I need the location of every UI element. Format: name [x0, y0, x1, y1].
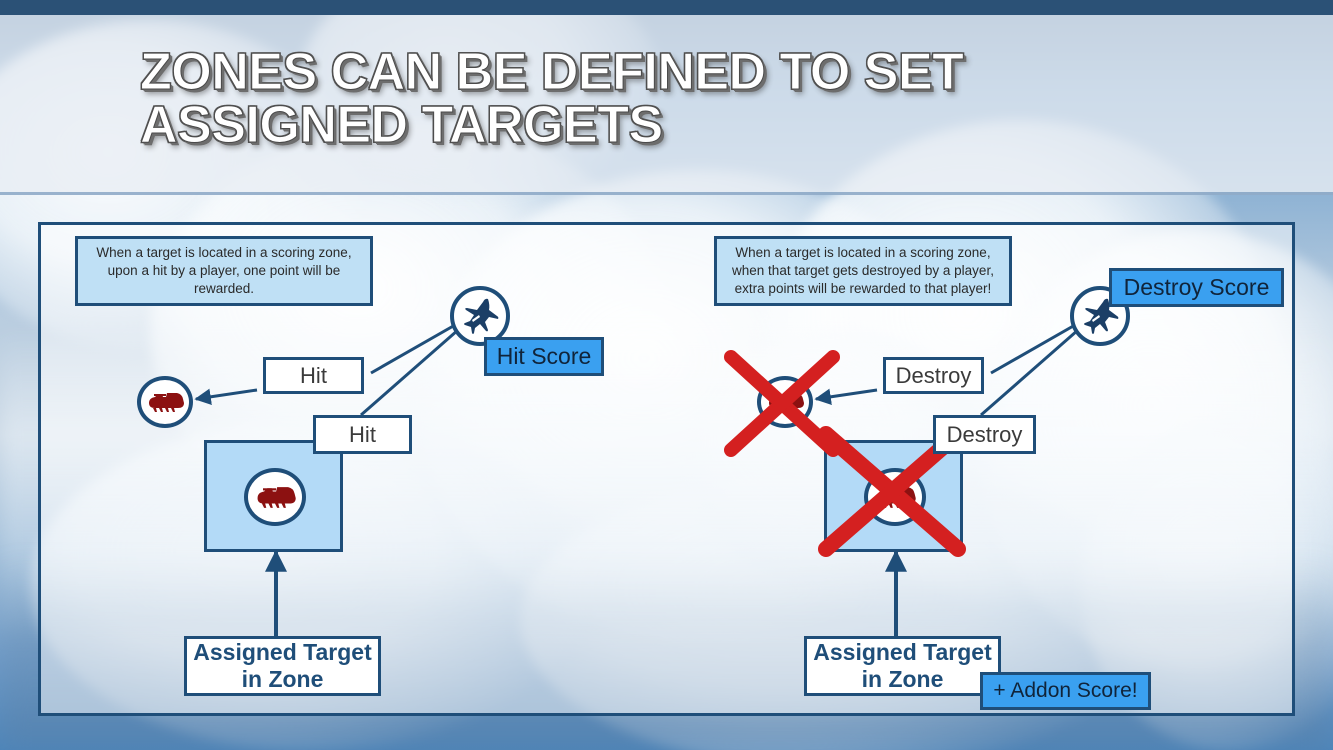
- right-info-box: When a target is located in a scoring zo…: [714, 236, 1012, 306]
- title-line-1: ZONES CAN BE DEFINED TO SET: [140, 43, 963, 101]
- ship-target-icon: [874, 485, 916, 509]
- left-info-box: When a target is located in a scoring zo…: [75, 236, 373, 306]
- addon-score-badge[interactable]: + Addon Score!: [980, 672, 1151, 710]
- right-target-marker-outside[interactable]: [757, 376, 813, 428]
- left-hit-label-bottom: Hit: [313, 415, 412, 454]
- hit-score-badge[interactable]: Hit Score: [484, 337, 604, 376]
- right-zone-caption: Assigned Target in Zone: [804, 636, 1001, 696]
- ship-target-icon: [766, 391, 804, 413]
- title-line-2: ASSIGNED TARGETS: [140, 99, 1190, 152]
- page-title: ZONES CAN BE DEFINED TO SET ASSIGNED TAR…: [140, 46, 1190, 152]
- destroy-score-badge[interactable]: Destroy Score: [1109, 268, 1284, 307]
- left-target-marker-outside[interactable]: [137, 376, 193, 428]
- right-zone-caption-line-2: in Zone: [862, 666, 944, 693]
- ship-target-icon: [254, 485, 296, 509]
- left-zone-caption-line-2: in Zone: [242, 666, 324, 693]
- fighter-jet-icon: [458, 296, 502, 336]
- left-target-marker-in-zone[interactable]: [244, 468, 306, 526]
- right-zone-caption-line-1: Assigned Target: [813, 639, 992, 666]
- left-hit-label-top: Hit: [263, 357, 364, 394]
- right-destroy-label-bottom: Destroy: [933, 415, 1036, 454]
- left-zone-caption: Assigned Target in Zone: [184, 636, 381, 696]
- top-accent-strip: [0, 0, 1333, 15]
- right-destroy-label-top: Destroy: [883, 357, 984, 394]
- right-target-marker-in-zone[interactable]: [864, 468, 926, 526]
- ship-target-icon: [146, 391, 184, 413]
- slide-root: ZONES CAN BE DEFINED TO SET ASSIGNED TAR…: [0, 0, 1333, 750]
- left-zone-caption-line-1: Assigned Target: [193, 639, 372, 666]
